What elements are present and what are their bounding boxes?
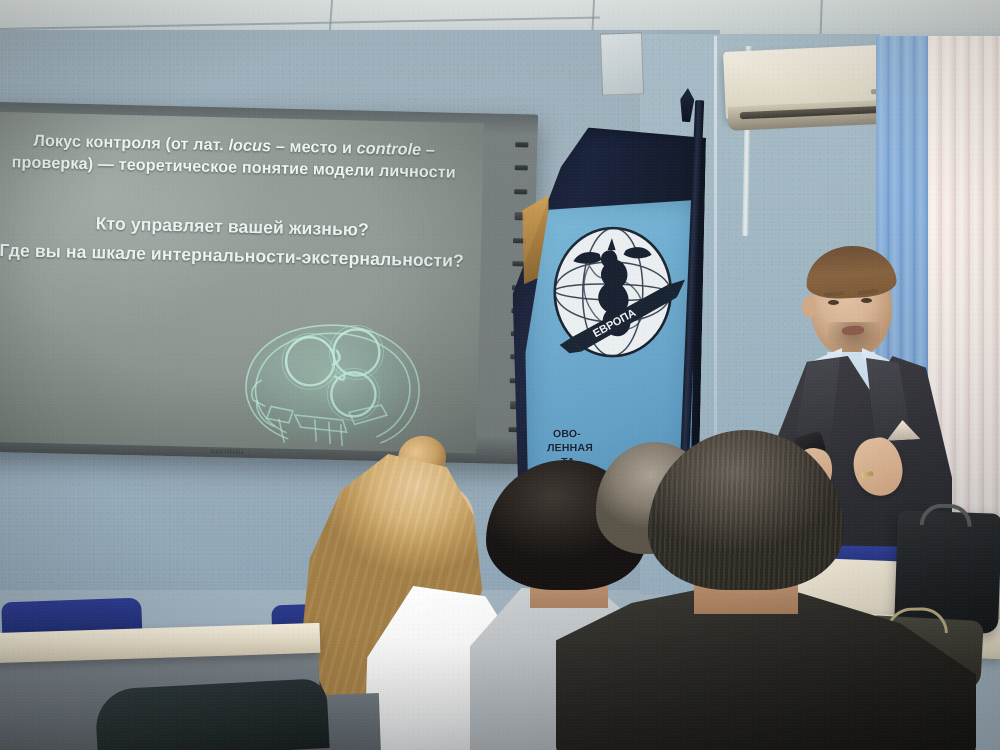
wall-vent-plate bbox=[600, 32, 644, 95]
screen-vignette bbox=[0, 112, 484, 454]
interactive-whiteboard[interactable]: Локус контроля (от лат. locus – место и … bbox=[0, 101, 538, 464]
projected-slide[interactable]: Локус контроля (от лат. locus – место и … bbox=[0, 112, 484, 454]
chair-foreground[interactable] bbox=[94, 678, 329, 750]
presenter-hair bbox=[805, 244, 898, 301]
seminar-room-photo: Локус контроля (от лат. locus – место и … bbox=[0, 0, 1000, 750]
chamber-of-commerce-emblem-icon: ЕВРОПА bbox=[537, 219, 688, 378]
audience-member-foreground-man bbox=[556, 430, 986, 750]
